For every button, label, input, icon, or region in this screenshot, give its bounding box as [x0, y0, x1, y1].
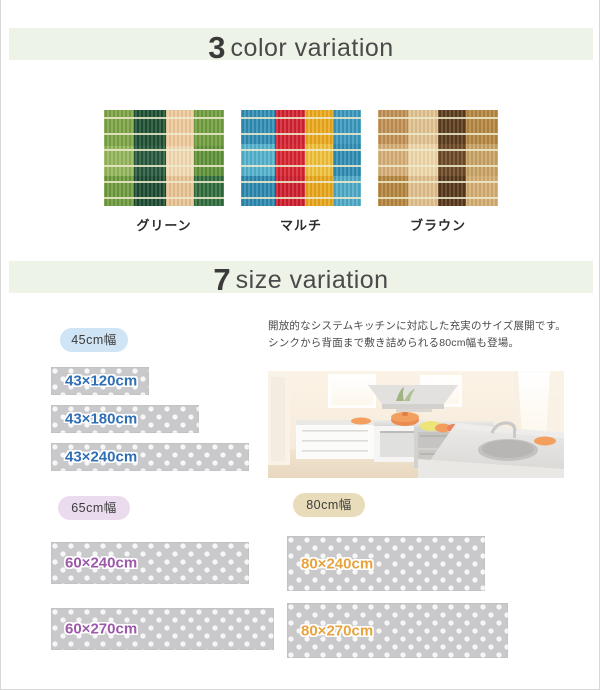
size-variation-number: 7 [213, 262, 230, 297]
size-bar-label-80x270: 80×270cm [301, 622, 373, 639]
size-bar-label-60x270: 60×270cm [65, 621, 137, 638]
size-badge-80cm: 80cm幅 [293, 493, 365, 517]
color-variation-word: color variation [231, 34, 394, 62]
size-badge-45cm-label: 45cm幅 [71, 333, 117, 347]
color-swatch-green[interactable] [104, 110, 224, 206]
size-bar-80x270[interactable]: 80×270cm [287, 603, 508, 658]
size-bar-label-43x180: 43×180cm [65, 411, 137, 428]
size-bar-label-43x240: 43×240cm [65, 449, 137, 466]
size-bar-label-60x240: 60×240cm [65, 555, 137, 572]
color-swatch-brown[interactable] [378, 110, 498, 206]
size-bar-80x240[interactable]: 80×240cm [287, 536, 485, 591]
kitchen-photo-illustration [268, 371, 564, 478]
size-bar-43x180[interactable]: 43×180cm [51, 405, 199, 433]
color-swatch-multi[interactable] [241, 110, 361, 206]
size-badge-65cm-label: 65cm幅 [71, 501, 117, 515]
size-variation-word: size variation [236, 266, 389, 294]
color-variation-number: 3 [208, 30, 225, 65]
size-bar-60x270[interactable]: 60×270cm [51, 608, 274, 650]
size-description-line-1: 開放的なシステムキッチンに対応した充実のサイズ展開です。 [268, 318, 568, 335]
size-variation-heading: 7size variation [1, 262, 600, 298]
size-badge-80cm-label: 80cm幅 [306, 498, 352, 512]
weave-threads-green [104, 110, 224, 206]
size-bar-43x240[interactable]: 43×240cm [51, 443, 249, 471]
size-bar-60x240[interactable]: 60×240cm [51, 542, 249, 584]
size-bar-label-80x240: 80×240cm [301, 555, 373, 572]
weave-threads-brown [378, 110, 498, 206]
color-swatch-label-green: グリーン [104, 215, 224, 234]
color-variation-heading: 3color variation [1, 30, 600, 66]
size-bar-label-43x120: 43×120cm [65, 373, 137, 390]
color-swatch-label-brown: ブラウン [378, 215, 498, 234]
size-badge-45cm: 45cm幅 [60, 328, 128, 352]
color-swatch-label-multi: マルチ [241, 215, 361, 234]
weave-threads-multi [241, 110, 361, 206]
kitchen-photo [268, 371, 564, 478]
size-bar-43x120[interactable]: 43×120cm [51, 367, 149, 395]
size-badge-65cm: 65cm幅 [58, 496, 130, 520]
size-description-line-2: シンクから背面まで敷き詰められる80cm幅も登場。 [268, 335, 568, 352]
